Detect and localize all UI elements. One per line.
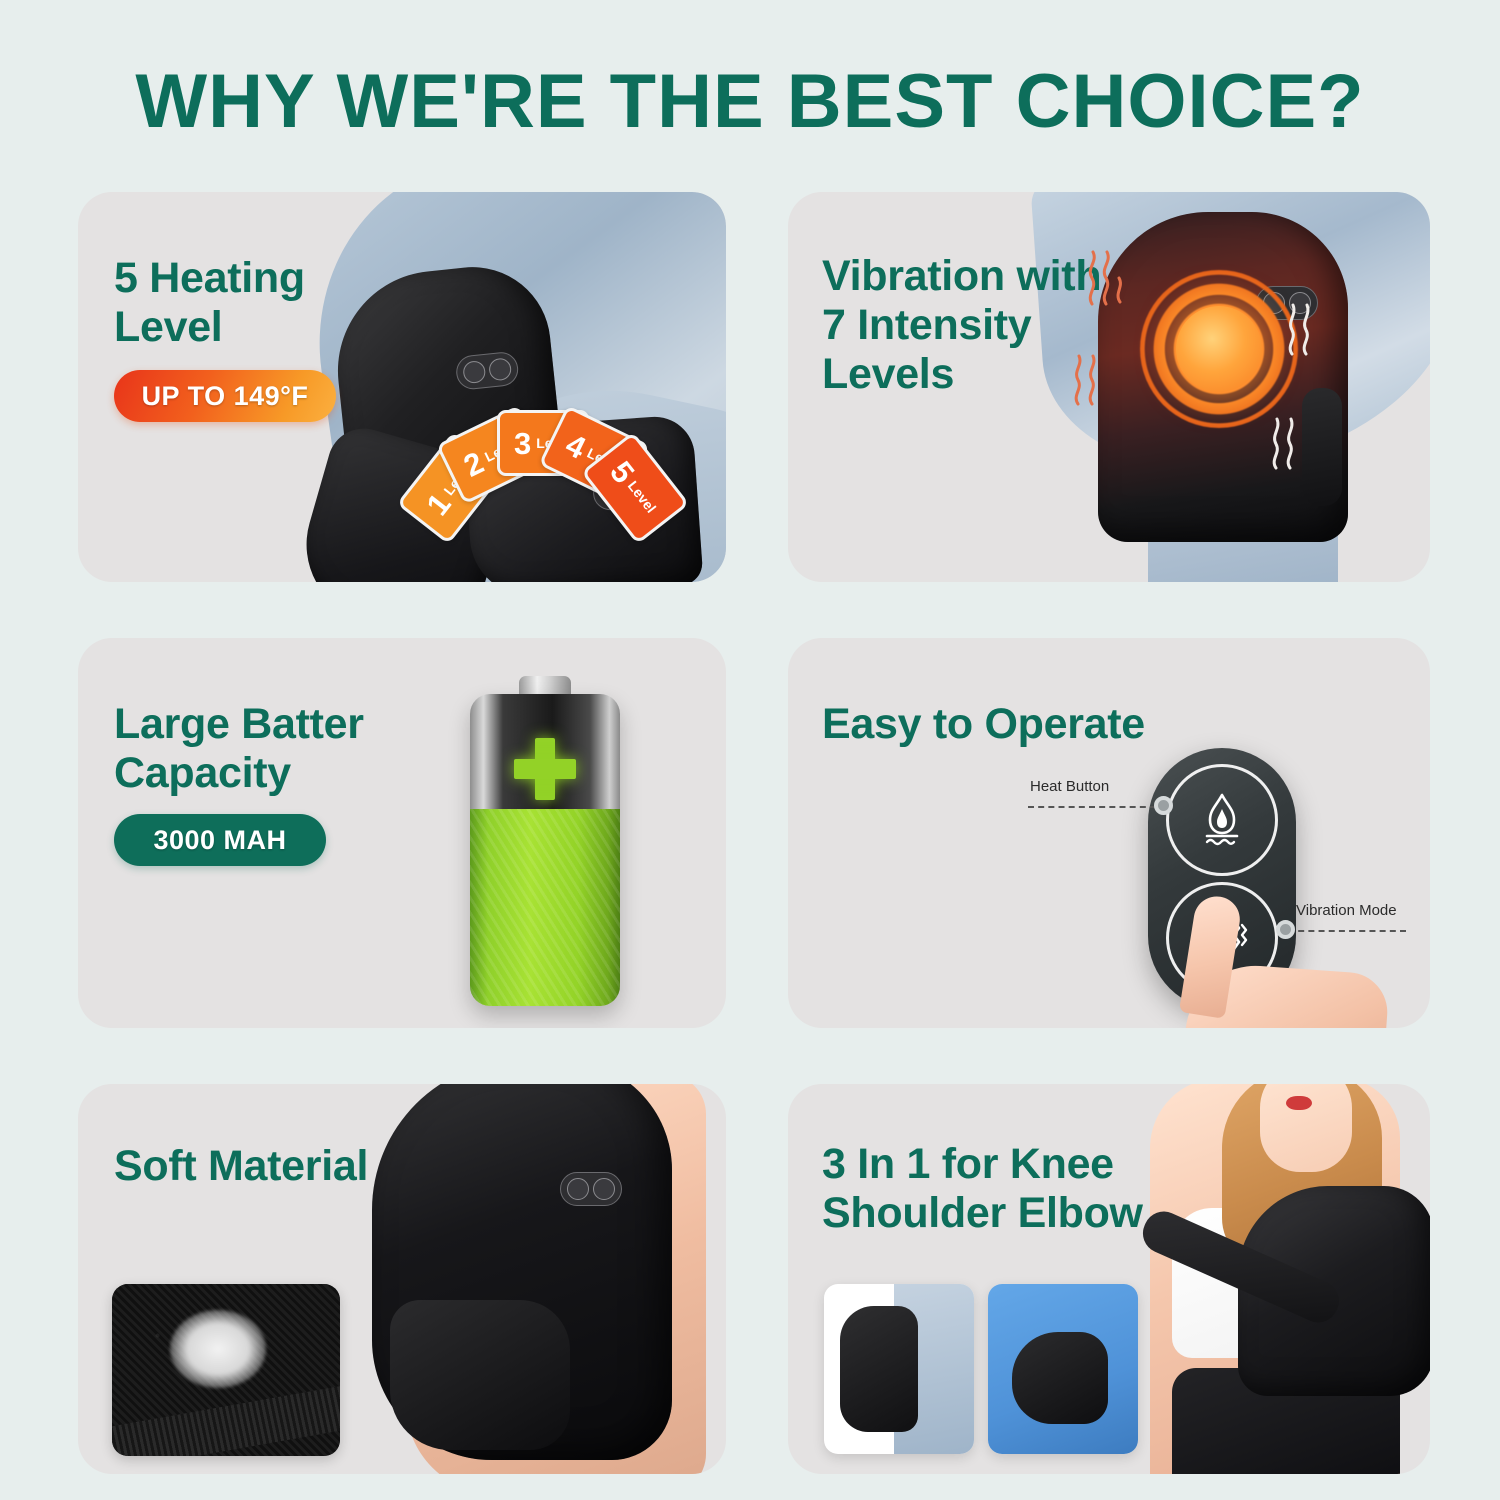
vibration-button-anchor-dot: [1276, 920, 1295, 939]
heat-wave-icon: [1284, 300, 1324, 358]
card-title-three-in-one: 3 In 1 for Knee Shoulder Elbow: [822, 1140, 1143, 1238]
heat-button-icon: [567, 1178, 589, 1200]
battery-graphic: [470, 676, 620, 1006]
heat-button-anchor-dot: [1154, 796, 1173, 815]
card-title-easy-to-operate: Easy to Operate: [822, 700, 1145, 749]
card-title-line: Levels: [822, 350, 1101, 399]
card-soft-material: Soft Material: [78, 1084, 726, 1474]
battery-charge-level: [470, 809, 620, 1006]
card-battery-capacity: Large Batter Capacity 3000 MAH: [78, 638, 726, 1028]
callout-label-heat-button: Heat Button: [1030, 778, 1109, 795]
heat-wave-icon: [1084, 248, 1128, 308]
card-three-in-one: 3 In 1 for Knee Shoulder Elbow: [788, 1084, 1430, 1474]
heat-button-callout-line: [1028, 806, 1156, 808]
heat-wave-icon: [1268, 414, 1308, 472]
flame-icon: [1197, 789, 1247, 852]
thumbnail-knee-use: [824, 1284, 974, 1454]
card-title-line: 5 Heating: [114, 254, 305, 303]
card-title-battery-capacity: Large Batter Capacity: [114, 700, 364, 798]
card-title-line: Shoulder Elbow: [822, 1189, 1143, 1238]
card-title-line: 7 Intensity: [822, 301, 1101, 350]
card-title-line: Capacity: [114, 749, 364, 798]
card-title-vibration-intensity: Vibration with 7 Intensity Levels: [822, 252, 1101, 399]
brace-side-flap: [1302, 388, 1342, 506]
heating-level-fan: 1 Level 2 Level 3 Level 4 Level 5 Level: [378, 192, 708, 410]
vibration-button-icon: [593, 1178, 615, 1200]
brace-control-pad: [560, 1172, 622, 1206]
badge-up-to-149f: UP TO 149°F: [114, 370, 336, 422]
fabric-texture-inset: [112, 1284, 340, 1456]
heat-glow-core: [1176, 306, 1262, 392]
soft-knee-brace-graphic: [372, 1084, 672, 1460]
page-title: WHY WE'RE THE BEST CHOICE?: [0, 58, 1500, 145]
heat-level-number: 3: [514, 428, 531, 459]
fleece-fluff-graphic: [170, 1310, 266, 1388]
thumbnail-elbow-use: [988, 1284, 1138, 1454]
thumb-knee-brace: [840, 1306, 918, 1432]
heat-button[interactable]: [1166, 764, 1278, 876]
card-title-line: Level: [114, 303, 305, 352]
model-photo-graphic: [1110, 1084, 1430, 1474]
card-title-line: 3 In 1 for Knee: [822, 1140, 1143, 1189]
card-title-line: Easy to Operate: [822, 700, 1145, 749]
card-vibration-intensity: Vibration with 7 Intensity Levels: [788, 192, 1430, 582]
card-easy-to-operate: Heat Button Vibration Mode Easy to Opera…: [788, 638, 1430, 1028]
card-title-heating-level: 5 Heating Level: [114, 254, 305, 352]
card-heating-level: 1 Level 2 Level 3 Level 4 Level 5 Level …: [78, 192, 726, 582]
feature-card-grid: 1 Level 2 Level 3 Level 4 Level 5 Level …: [78, 192, 1430, 1474]
card-title-line: Vibration with: [822, 252, 1101, 301]
model-lips: [1286, 1096, 1312, 1110]
card-title-soft-material: Soft Material: [114, 1142, 368, 1191]
thumb-elbow-brace: [1012, 1332, 1108, 1424]
vibration-mode-callout-line: [1288, 930, 1406, 932]
card-title-line: Soft Material: [114, 1142, 368, 1191]
callout-label-vibration-mode: Vibration Mode: [1296, 902, 1397, 919]
card-title-line: Large Batter: [114, 700, 364, 749]
heat-wave-icon: [1070, 352, 1110, 408]
heat-level-label: Level: [626, 478, 659, 515]
badge-3000-mah: 3000 MAH: [114, 814, 326, 866]
plus-icon: [514, 738, 576, 800]
